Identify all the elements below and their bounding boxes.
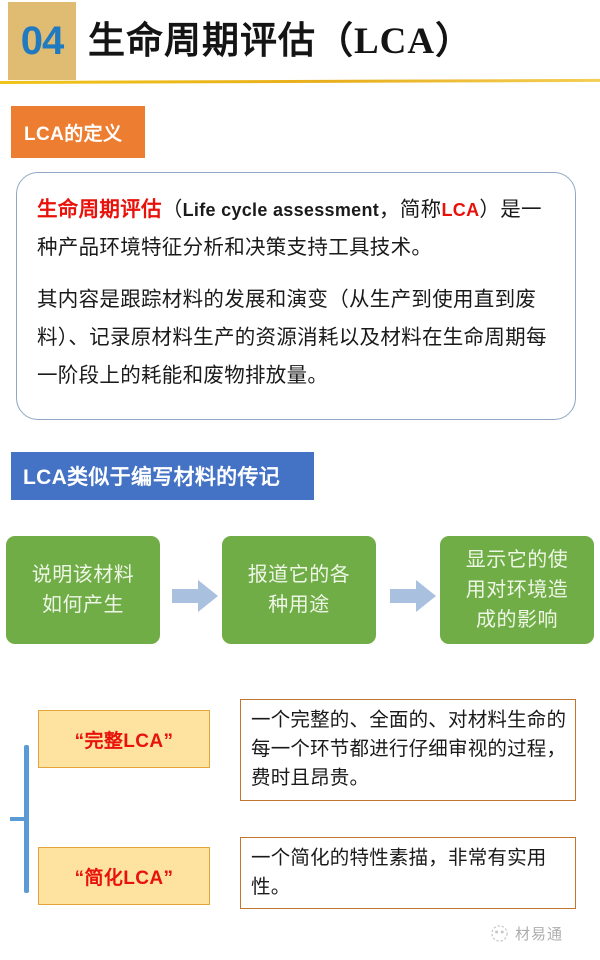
- slide-number-badge: 04: [8, 2, 76, 80]
- circle-logo-icon: [490, 924, 509, 943]
- header-divider: [0, 79, 600, 84]
- flow-diagram: 说明该材料 如何产生 报道它的各 种用途 显示它的使 用对环境造 成的影响: [0, 536, 600, 646]
- definition-comma: ，: [379, 199, 400, 221]
- flow-arrow-2-icon: [390, 580, 436, 612]
- section-tag-definition: LCA的定义: [11, 106, 145, 158]
- flow-step-1-label: 说明该材料 如何产生: [32, 560, 135, 620]
- lca-type-tag-full-label: “完整LCA”: [75, 726, 174, 753]
- definition-paragraph-1: 生命周期评估（Life cycle assessment，简称LCA）是一种产品…: [37, 191, 561, 267]
- flow-step-2: 报道它的各 种用途: [222, 536, 376, 644]
- definition-abbrev: LCA: [441, 200, 479, 220]
- definition-paragraph-2: 其内容是跟踪材料的发展和演变（从生产到使用直到废料）、记录原材料生产的资源消耗以…: [37, 281, 561, 395]
- flow-step-3-label: 显示它的使 用对环境造 成的影响: [466, 545, 569, 635]
- definition-latin-term: Life cycle assessment: [183, 200, 379, 220]
- lca-type-description-simplified-text: 一个简化的特性素描，非常有实用性。: [241, 838, 575, 902]
- lca-type-description-simplified: 一个简化的特性素描，非常有实用性。: [240, 837, 576, 909]
- definition-open-paren: （: [162, 199, 183, 221]
- definition-abbrev-prefix: 简称: [400, 199, 442, 221]
- lca-type-tag-simplified-label: “简化LCA”: [75, 863, 174, 890]
- definition-close-paren: ）: [479, 199, 500, 221]
- slide-header: 04 生命周期评估（LCA）: [0, 0, 600, 84]
- flow-step-3: 显示它的使 用对环境造 成的影响: [440, 536, 594, 644]
- flow-step-1: 说明该材料 如何产生: [6, 536, 160, 644]
- flow-step-2-label: 报道它的各 种用途: [248, 560, 351, 620]
- definition-box: 生命周期评估（Life cycle assessment，简称LCA）是一种产品…: [16, 172, 576, 420]
- page-title: 生命周期评估（LCA）: [88, 10, 473, 64]
- lca-type-description-full: 一个完整的、全面的、对材料生命的每一个环节都进行仔细审视的过程，费时且昂贵。: [240, 699, 576, 801]
- watermark-label: 材易通: [515, 923, 563, 944]
- section-tag-definition-label: LCA的定义: [11, 119, 122, 146]
- bracket-stem: [10, 817, 28, 821]
- section-tag-analogy-label: LCA类似于编写材料的传记: [11, 461, 280, 491]
- slide-number: 04: [21, 19, 64, 64]
- lca-type-description-full-text: 一个完整的、全面的、对材料生命的每一个环节都进行仔细审视的过程，费时且昂贵。: [241, 700, 575, 793]
- lca-type-tag-simplified: “简化LCA”: [38, 847, 210, 905]
- lca-type-tag-full: “完整LCA”: [38, 710, 210, 768]
- watermark: 材易通: [490, 920, 594, 946]
- flow-arrow-1-icon: [172, 580, 218, 612]
- section-tag-analogy: LCA类似于编写材料的传记: [11, 452, 314, 500]
- definition-lead-term: 生命周期评估: [37, 199, 162, 221]
